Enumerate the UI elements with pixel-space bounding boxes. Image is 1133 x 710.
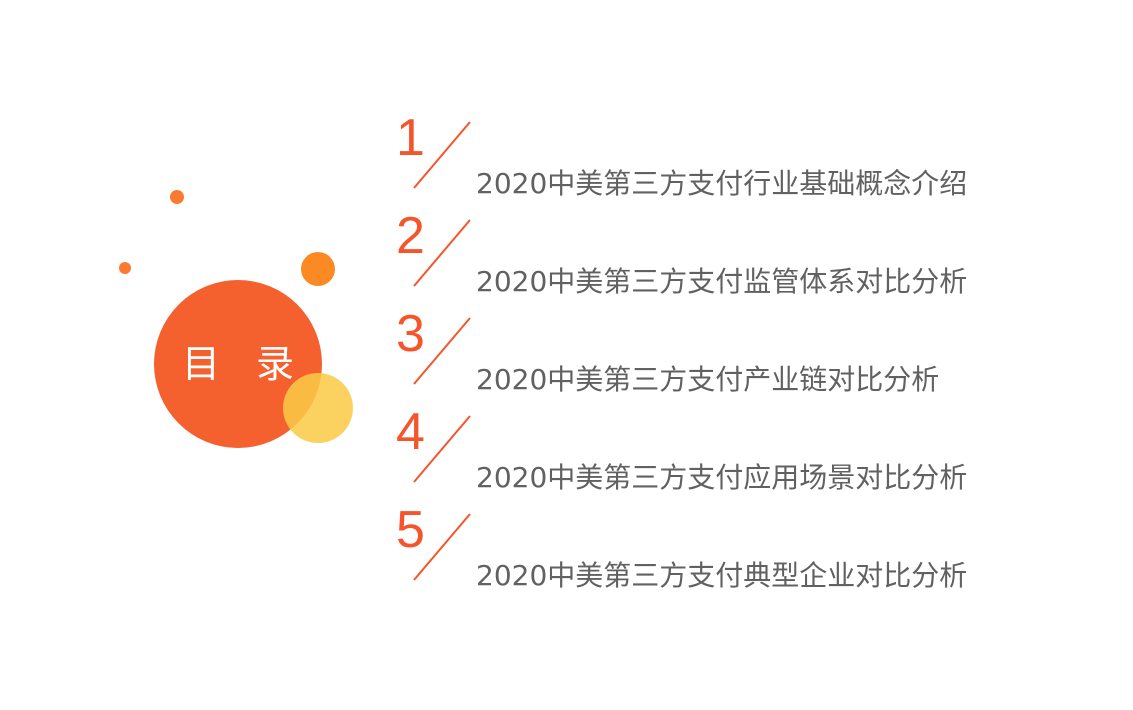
toc-item[interactable]: 3 2020中美第三方支付产业链对比分析 <box>396 308 1096 406</box>
toc-slash-icon <box>410 412 474 486</box>
decorative-graphic-cluster: 目 录 <box>0 0 420 710</box>
toc-item-label: 2020中美第三方支付监管体系对比分析 <box>476 265 967 299</box>
toc-item-label: 2020中美第三方支付行业基础概念介绍 <box>476 167 967 201</box>
toc-slash-icon <box>410 510 474 584</box>
toc-item[interactable]: 5 2020中美第三方支付典型企业对比分析 <box>396 504 1096 602</box>
toc-item-label: 2020中美第三方支付产业链对比分析 <box>476 363 939 397</box>
toc-item[interactable]: 4 2020中美第三方支付应用场景对比分析 <box>396 406 1096 504</box>
toc-item-label: 2020中美第三方支付典型企业对比分析 <box>476 559 967 593</box>
decorative-dot-small-upper <box>170 190 184 204</box>
contents-badge-label: 目 录 <box>170 345 306 383</box>
toc-slash-icon <box>410 314 474 388</box>
toc-item-label: 2020中美第三方支付应用场景对比分析 <box>476 461 967 495</box>
table-of-contents-list: 1 2020中美第三方支付行业基础概念介绍 2 2020中美第三方支付监管体系对… <box>396 112 1096 602</box>
slide-canvas: 目 录 1 2020中美第三方支付行业基础概念介绍 2 2020中美第三方支付监… <box>0 0 1133 710</box>
decorative-dot-small-lower <box>119 262 131 274</box>
decorative-circle-yellow <box>283 373 353 443</box>
toc-item[interactable]: 2 2020中美第三方支付监管体系对比分析 <box>396 210 1096 308</box>
decorative-dot-medium <box>301 252 335 286</box>
toc-slash-icon <box>410 216 474 290</box>
toc-item[interactable]: 1 2020中美第三方支付行业基础概念介绍 <box>396 112 1096 210</box>
toc-slash-icon <box>410 118 474 192</box>
